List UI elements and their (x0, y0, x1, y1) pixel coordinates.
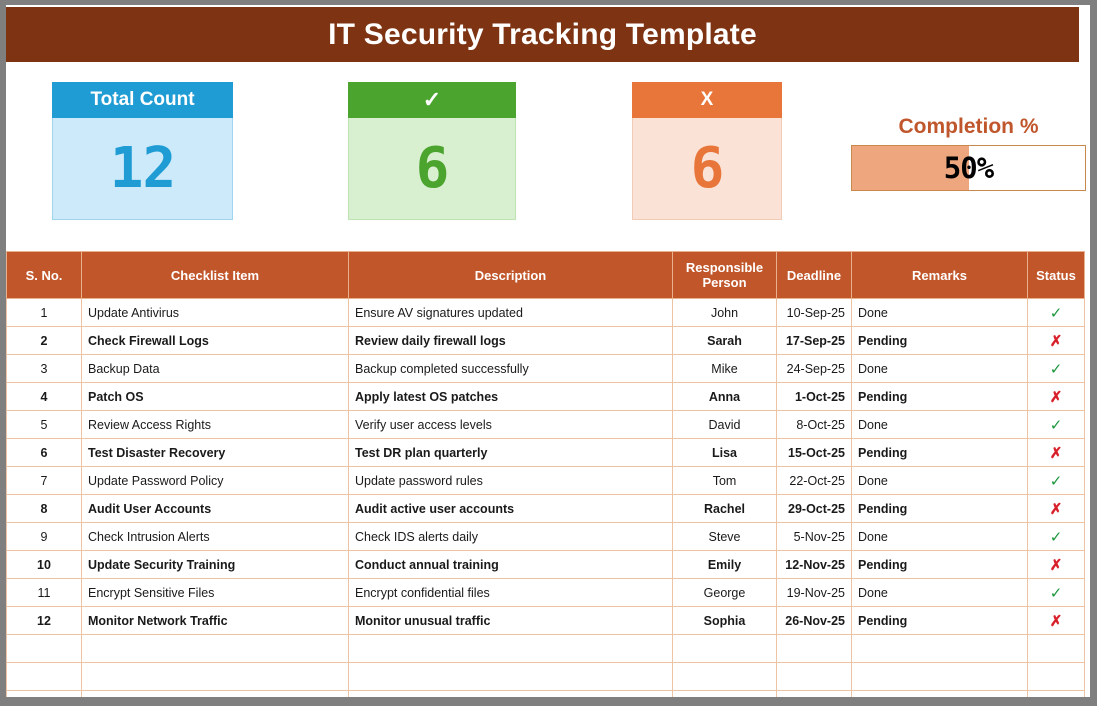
cell-checklist-item[interactable]: Update Antivirus (82, 299, 349, 327)
spreadsheet-window: IT Security Tracking Template Total Coun… (0, 0, 1097, 706)
cell-responsible-person[interactable]: Sophia (673, 607, 777, 635)
cell-description[interactable] (349, 663, 673, 691)
cell-deadline[interactable] (777, 663, 852, 691)
cell-sno[interactable]: 5 (7, 411, 82, 439)
cell-deadline[interactable]: 10-Sep-25 (777, 299, 852, 327)
cell-remarks[interactable]: Pending (852, 607, 1028, 635)
cell-responsible-person[interactable]: Mike (673, 355, 777, 383)
cell-sno[interactable]: 9 (7, 523, 82, 551)
table-row[interactable]: 1Update AntivirusEnsure AV signatures up… (7, 299, 1085, 327)
cell-deadline[interactable]: 24-Sep-25 (777, 355, 852, 383)
cell-responsible-person[interactable] (673, 663, 777, 691)
cell-checklist-item[interactable]: Update Password Policy (82, 467, 349, 495)
cell-description[interactable]: Update password rules (349, 467, 673, 495)
status-check-icon[interactable]: ✓ (1028, 523, 1085, 551)
cell-responsible-person[interactable]: Tom (673, 467, 777, 495)
kpi-total-count-label: Total Count (52, 82, 233, 118)
cell-remarks[interactable]: Done (852, 523, 1028, 551)
kpi-total-count-value: 12 (52, 118, 233, 220)
cell-responsible-person[interactable]: Steve (673, 523, 777, 551)
status-check-icon[interactable]: ✓ (1028, 467, 1085, 495)
table-row[interactable]: 6Test Disaster RecoveryTest DR plan quar… (7, 439, 1085, 467)
cell-responsible-person[interactable]: Sarah (673, 327, 777, 355)
table-row[interactable]: 11Encrypt Sensitive FilesEncrypt confide… (7, 579, 1085, 607)
cell-deadline[interactable]: 22-Oct-25 (777, 467, 852, 495)
status-check-icon[interactable]: ✓ (1028, 299, 1085, 327)
table-row[interactable]: 2Check Firewall LogsReview daily firewal… (7, 327, 1085, 355)
cell-deadline[interactable] (777, 635, 852, 663)
status-cross-icon[interactable]: ✗ (1028, 551, 1085, 579)
cell-checklist-item[interactable]: Test Disaster Recovery (82, 439, 349, 467)
cell-checklist-item[interactable] (82, 691, 349, 698)
cell-deadline[interactable]: 12-Nov-25 (777, 551, 852, 579)
cell-responsible-person[interactable]: George (673, 579, 777, 607)
status-cross-icon[interactable]: ✗ (1028, 383, 1085, 411)
cell-deadline[interactable]: 26-Nov-25 (777, 607, 852, 635)
cell-description[interactable] (349, 635, 673, 663)
cell-checklist-item[interactable]: Monitor Network Traffic (82, 607, 349, 635)
cell-status[interactable] (1028, 663, 1085, 691)
cell-remarks[interactable]: Done (852, 355, 1028, 383)
status-cross-icon[interactable]: ✗ (1028, 327, 1085, 355)
cell-sno[interactable] (7, 635, 82, 663)
cell-sno[interactable]: 2 (7, 327, 82, 355)
cell-description[interactable]: Encrypt confidential files (349, 579, 673, 607)
cell-remarks[interactable] (852, 691, 1028, 698)
cell-deadline[interactable]: 1-Oct-25 (777, 383, 852, 411)
cell-remarks[interactable] (852, 663, 1028, 691)
checklist-table: S. No. Checklist Item Description Respon… (6, 251, 1085, 697)
column-header-deadline[interactable]: Deadline (777, 252, 852, 299)
column-header-desc[interactable]: Description (349, 252, 673, 299)
cell-remarks[interactable]: Done (852, 299, 1028, 327)
cell-description[interactable]: Backup completed successfully (349, 355, 673, 383)
status-cross-icon[interactable]: ✗ (1028, 495, 1085, 523)
cell-checklist-item[interactable]: Review Access Rights (82, 411, 349, 439)
cell-remarks[interactable]: Pending (852, 439, 1028, 467)
cell-checklist-item[interactable] (82, 635, 349, 663)
cell-deadline[interactable]: 8-Oct-25 (777, 411, 852, 439)
status-check-icon[interactable]: ✓ (1028, 411, 1085, 439)
table-row[interactable]: 10Update Security TrainingConduct annual… (7, 551, 1085, 579)
kpi-card-pending-count: X 6 (632, 82, 782, 220)
table-row[interactable]: 5Review Access RightsVerify user access … (7, 411, 1085, 439)
cell-checklist-item[interactable]: Check Intrusion Alerts (82, 523, 349, 551)
completion-label: Completion % (851, 115, 1086, 139)
cell-responsible-person[interactable] (673, 691, 777, 698)
column-header-remarks[interactable]: Remarks (852, 252, 1028, 299)
worksheet-canvas: IT Security Tracking Template Total Coun… (6, 5, 1090, 697)
cell-sno[interactable]: 4 (7, 383, 82, 411)
completion-progress-bar: 50% (851, 145, 1086, 191)
cell-description[interactable]: Review daily firewall logs (349, 327, 673, 355)
status-check-icon[interactable]: ✓ (1028, 355, 1085, 383)
table-row[interactable]: 9Check Intrusion AlertsCheck IDS alerts … (7, 523, 1085, 551)
cell-sno[interactable] (7, 691, 82, 698)
table-row[interactable]: 4Patch OSApply latest OS patchesAnna1-Oc… (7, 383, 1085, 411)
table-row[interactable]: 7Update Password PolicyUpdate password r… (7, 467, 1085, 495)
table-row-empty[interactable] (7, 691, 1085, 698)
page-title-banner: IT Security Tracking Template (6, 7, 1079, 62)
cell-remarks[interactable]: Pending (852, 383, 1028, 411)
table-row[interactable]: 12Monitor Network TrafficMonitor unusual… (7, 607, 1085, 635)
cell-remarks[interactable]: Pending (852, 327, 1028, 355)
cell-checklist-item[interactable] (82, 663, 349, 691)
cell-responsible-person[interactable]: Emily (673, 551, 777, 579)
cell-responsible-person[interactable] (673, 635, 777, 663)
kpi-card-completed-count: ✓ 6 (348, 82, 516, 220)
cell-description[interactable]: Apply latest OS patches (349, 383, 673, 411)
kpi-pending-count-value: 6 (632, 118, 782, 220)
check-icon: ✓ (348, 82, 516, 118)
cell-deadline[interactable]: 29-Oct-25 (777, 495, 852, 523)
cell-checklist-item[interactable]: Audit User Accounts (82, 495, 349, 523)
table-row[interactable]: 8Audit User AccountsAudit active user ac… (7, 495, 1085, 523)
column-header-status[interactable]: Status (1028, 252, 1085, 299)
cell-checklist-item[interactable]: Patch OS (82, 383, 349, 411)
table-row-empty[interactable] (7, 663, 1085, 691)
cell-remarks[interactable]: Pending (852, 495, 1028, 523)
cell-remarks[interactable]: Pending (852, 551, 1028, 579)
cell-deadline[interactable]: 15-Oct-25 (777, 439, 852, 467)
table-header-row: S. No. Checklist Item Description Respon… (7, 252, 1085, 299)
cell-sno[interactable]: 7 (7, 467, 82, 495)
page-title: IT Security Tracking Template (328, 18, 757, 52)
cell-description[interactable]: Conduct annual training (349, 551, 673, 579)
cell-remarks[interactable]: Done (852, 579, 1028, 607)
cell-checklist-item[interactable]: Backup Data (82, 355, 349, 383)
cell-status[interactable] (1028, 635, 1085, 663)
cell-responsible-person[interactable]: David (673, 411, 777, 439)
cell-sno[interactable]: 10 (7, 551, 82, 579)
cell-description[interactable]: Audit active user accounts (349, 495, 673, 523)
kpi-completed-count-value: 6 (348, 118, 516, 220)
completion-gauge: Completion % 50% (851, 115, 1086, 191)
cell-description[interactable]: Monitor unusual traffic (349, 607, 673, 635)
column-header-item[interactable]: Checklist Item (82, 252, 349, 299)
cross-icon: X (632, 82, 782, 118)
status-check-icon[interactable]: ✓ (1028, 579, 1085, 607)
status-cross-icon[interactable]: ✗ (1028, 607, 1085, 635)
cell-deadline[interactable] (777, 691, 852, 698)
cell-deadline[interactable]: 5-Nov-25 (777, 523, 852, 551)
cell-sno[interactable]: 8 (7, 495, 82, 523)
cell-deadline[interactable]: 17-Sep-25 (777, 327, 852, 355)
cell-sno[interactable]: 12 (7, 607, 82, 635)
cell-checklist-item[interactable]: Encrypt Sensitive Files (82, 579, 349, 607)
cell-sno[interactable]: 3 (7, 355, 82, 383)
status-cross-icon[interactable]: ✗ (1028, 439, 1085, 467)
cell-responsible-person[interactable]: Rachel (673, 495, 777, 523)
completion-percent-value: 50% (852, 146, 1085, 190)
checklist-table-body: 1Update AntivirusEnsure AV signatures up… (7, 299, 1085, 698)
cell-description[interactable]: Test DR plan quarterly (349, 439, 673, 467)
column-header-person[interactable]: Responsible Person (673, 252, 777, 299)
cell-description[interactable]: Ensure AV signatures updated (349, 299, 673, 327)
cell-status[interactable] (1028, 691, 1085, 698)
cell-deadline[interactable]: 19-Nov-25 (777, 579, 852, 607)
kpi-card-total-count: Total Count 12 (52, 82, 233, 220)
cell-sno[interactable]: 6 (7, 439, 82, 467)
column-header-sno[interactable]: S. No. (7, 252, 82, 299)
cell-remarks[interactable]: Done (852, 467, 1028, 495)
cell-checklist-item[interactable]: Check Firewall Logs (82, 327, 349, 355)
cell-responsible-person[interactable]: Anna (673, 383, 777, 411)
cell-sno[interactable]: 11 (7, 579, 82, 607)
cell-sno[interactable] (7, 663, 82, 691)
cell-remarks[interactable] (852, 635, 1028, 663)
cell-description[interactable]: Verify user access levels (349, 411, 673, 439)
cell-remarks[interactable]: Done (852, 411, 1028, 439)
cell-responsible-person[interactable]: Lisa (673, 439, 777, 467)
cell-description[interactable]: Check IDS alerts daily (349, 523, 673, 551)
table-row-empty[interactable] (7, 635, 1085, 663)
cell-checklist-item[interactable]: Update Security Training (82, 551, 349, 579)
cell-sno[interactable]: 1 (7, 299, 82, 327)
cell-description[interactable] (349, 691, 673, 698)
cell-responsible-person[interactable]: John (673, 299, 777, 327)
table-row[interactable]: 3Backup DataBackup completed successfull… (7, 355, 1085, 383)
